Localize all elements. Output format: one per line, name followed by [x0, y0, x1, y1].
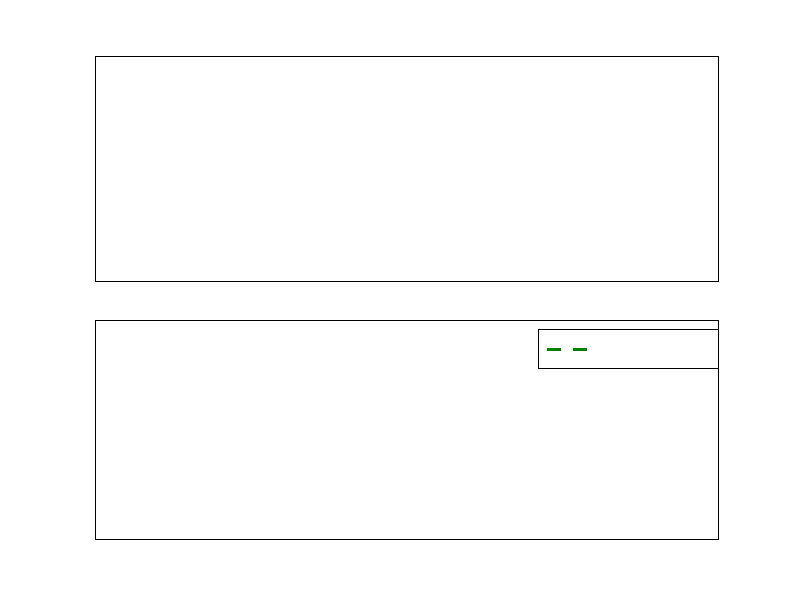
differential-histogram-axes: [95, 56, 719, 282]
histogram-bars-layer: [96, 57, 718, 281]
dashed-line-icon: [547, 348, 587, 350]
figure-canvas: [0, 0, 800, 600]
legend[interactable]: [538, 329, 719, 369]
